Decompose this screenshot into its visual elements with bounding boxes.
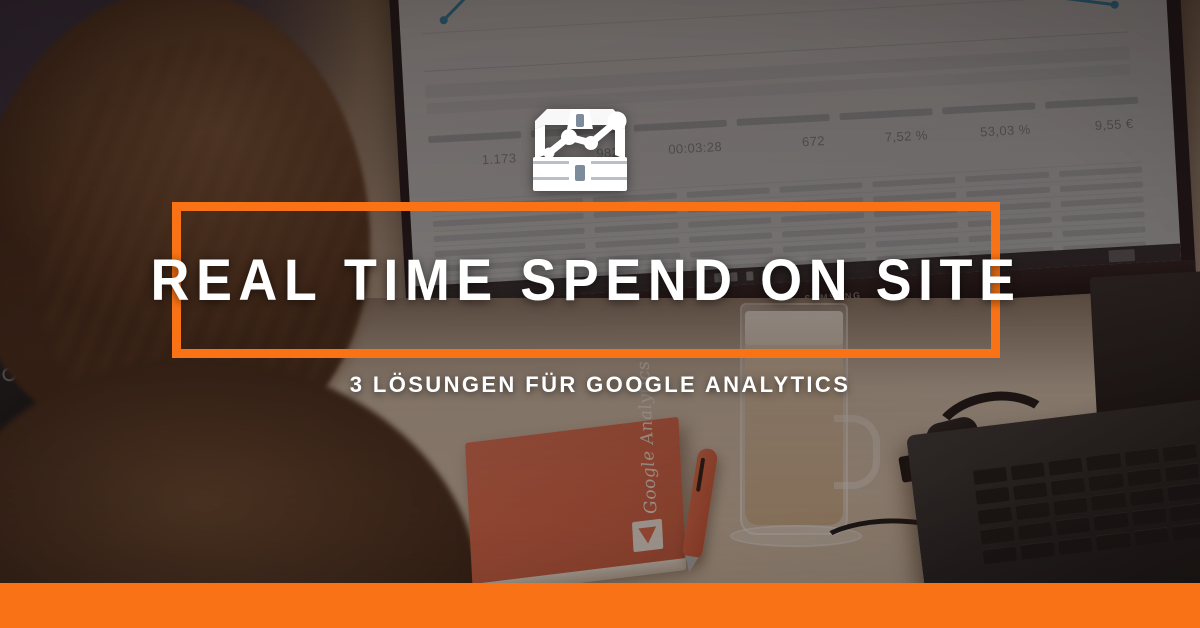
banner: 1.173 982 00:03:28 672 7,52 % 53,03 % 9,… — [0, 0, 1200, 628]
title-frame: REAL TIME SPEND ON SITE — [172, 202, 1000, 358]
page-title: REAL TIME SPEND ON SITE — [209, 211, 962, 349]
subtitle: 3 LÖSUNGEN FÜR GOOGLE ANALYTICS — [0, 372, 1200, 398]
bottom-accent-bar — [0, 583, 1200, 628]
treasure-chest-chart-icon — [519, 99, 641, 197]
